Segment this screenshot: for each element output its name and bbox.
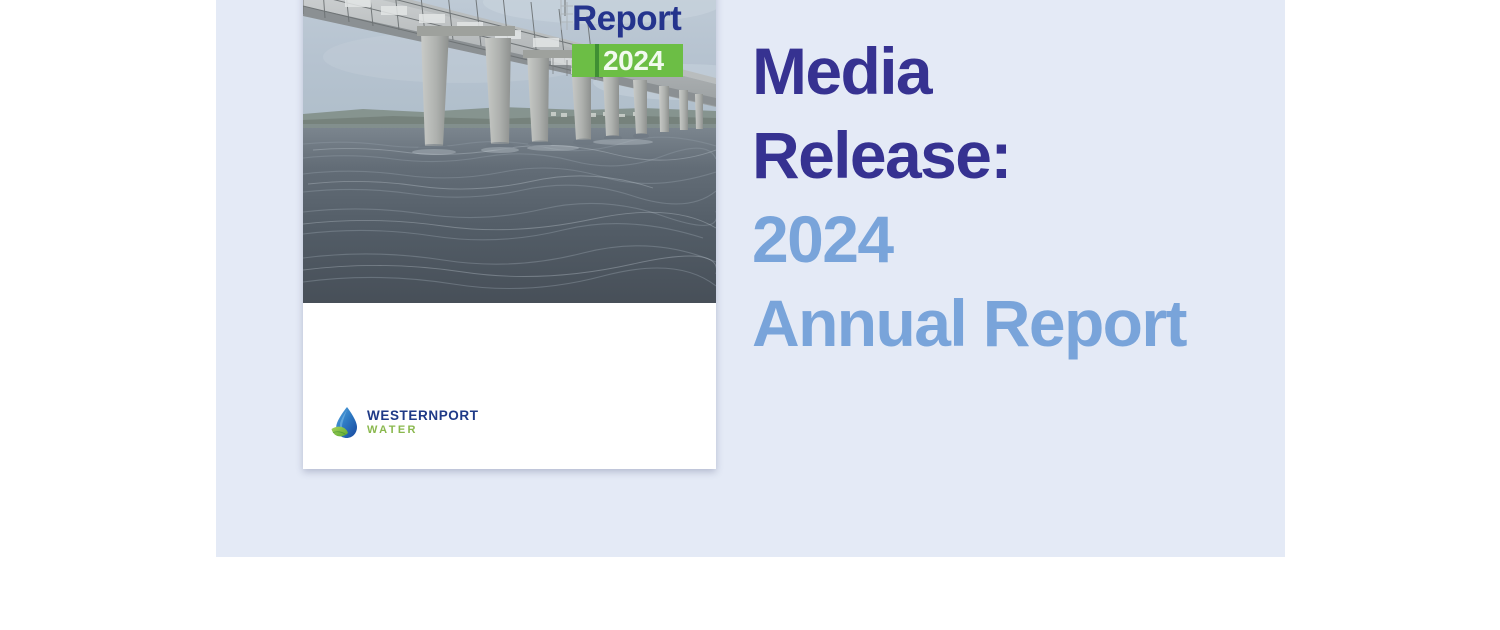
annual-report-cover-card[interactable]: Annual Report 2024: [303, 0, 716, 469]
cover-year-text: 2024: [603, 47, 664, 75]
water-droplet-leaf-icon: [330, 405, 360, 440]
westernport-water-logo: WESTERNPORT WATER: [330, 405, 479, 440]
logo-wordmark: WESTERNPORT WATER: [367, 409, 479, 436]
headline-line-annual-report: Annual Report: [752, 281, 1272, 365]
headline-line-year: 2024: [752, 197, 1272, 281]
headline-line-release: Release:: [752, 113, 1272, 197]
cover-year-band: 2024: [572, 44, 683, 77]
headline-line-media: Media: [752, 29, 1272, 113]
cover-lower-band: [303, 303, 716, 469]
logo-word-westernport: WESTERNPORT: [367, 409, 479, 423]
cover-title-block: Annual Report 2024: [572, 0, 687, 77]
cover-year-stripe: [595, 44, 599, 77]
logo-word-water: WATER: [367, 425, 479, 436]
media-release-hero-panel: Annual Report 2024: [216, 0, 1285, 557]
media-release-headline: Media Release: 2024 Annual Report: [752, 29, 1272, 365]
cover-title-line-2: Report: [572, 1, 687, 36]
